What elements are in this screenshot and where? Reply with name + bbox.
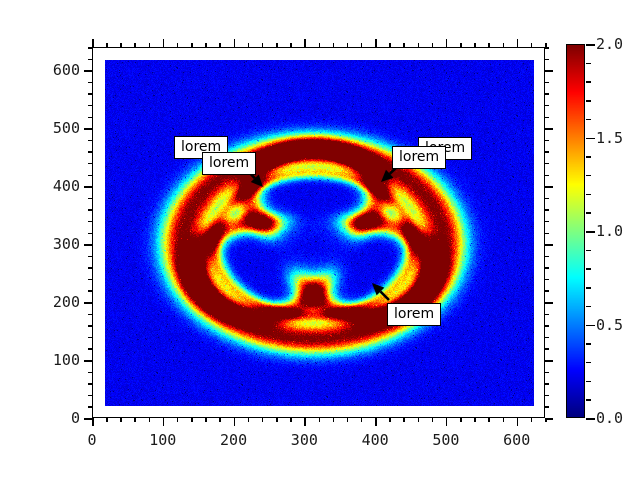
x-major-tick-top xyxy=(517,39,519,47)
y-minor-tick xyxy=(88,221,92,223)
colorbar-tick-label: 1.0 xyxy=(596,222,623,240)
y-minor-tick-right xyxy=(545,175,549,177)
colorbar-tick-label: 0.0 xyxy=(596,409,623,427)
y-major-tick xyxy=(84,418,92,420)
x-major-tick xyxy=(304,418,306,426)
x-minor-tick-top xyxy=(120,43,122,47)
x-minor-tick xyxy=(460,418,462,422)
x-major-tick xyxy=(234,418,236,426)
y-axis-tick-label: 0 xyxy=(71,409,80,427)
colorbar-major-tick xyxy=(586,138,595,140)
x-axis-tick-label: 400 xyxy=(362,431,389,449)
colorbar-minor-tick xyxy=(586,250,591,252)
y-major-tick-right xyxy=(545,360,553,362)
x-major-tick-top xyxy=(234,39,236,47)
x-minor-tick-top xyxy=(347,43,349,47)
x-minor-tick xyxy=(418,418,420,422)
y-minor-tick xyxy=(88,290,92,292)
y-major-tick-right xyxy=(545,128,553,130)
colorbar-minor-tick xyxy=(586,175,591,177)
x-minor-tick xyxy=(149,418,151,422)
y-minor-tick-right xyxy=(545,395,549,397)
x-minor-tick xyxy=(319,418,321,422)
y-major-tick xyxy=(84,70,92,72)
x-minor-tick xyxy=(276,418,278,422)
colorbar-tick-label: 2.0 xyxy=(596,35,623,53)
y-minor-tick xyxy=(88,279,92,281)
y-minor-tick-right xyxy=(545,325,549,327)
x-major-tick xyxy=(517,418,519,426)
y-major-tick-right xyxy=(545,186,553,188)
y-minor-tick-right xyxy=(545,256,549,258)
x-minor-tick xyxy=(219,418,221,422)
x-minor-tick xyxy=(177,418,179,422)
x-minor-tick xyxy=(474,418,476,422)
annotation-callout-right-front[interactable]: lorem xyxy=(392,146,446,169)
annotation-callout-left-front[interactable]: lorem xyxy=(202,152,256,175)
y-minor-tick-right xyxy=(545,314,549,316)
y-minor-tick xyxy=(88,337,92,339)
x-axis-tick-label: 500 xyxy=(432,431,459,449)
y-minor-tick xyxy=(88,105,92,107)
y-minor-tick-right xyxy=(545,198,549,200)
x-minor-tick-top xyxy=(403,43,405,47)
x-axis-tick-label: 600 xyxy=(503,431,530,449)
x-minor-tick-top xyxy=(531,43,533,47)
x-minor-tick xyxy=(333,418,335,422)
x-axis-tick-label: 100 xyxy=(149,431,176,449)
y-minor-tick xyxy=(88,395,92,397)
colorbar-minor-tick xyxy=(586,306,591,308)
colorbar-tick-label: 1.5 xyxy=(596,129,623,147)
x-minor-tick-top xyxy=(361,43,363,47)
y-minor-tick-right xyxy=(545,267,549,269)
y-minor-tick xyxy=(88,93,92,95)
y-major-tick-right xyxy=(545,244,553,246)
x-minor-tick xyxy=(403,418,405,422)
y-minor-tick xyxy=(88,267,92,269)
x-minor-tick xyxy=(205,418,207,422)
y-minor-tick-right xyxy=(545,209,549,211)
y-minor-tick xyxy=(88,314,92,316)
colorbar-minor-tick xyxy=(586,399,591,401)
y-minor-tick-right xyxy=(545,82,549,84)
y-minor-tick-right xyxy=(545,406,549,408)
x-minor-tick xyxy=(503,418,505,422)
y-minor-tick-right xyxy=(545,383,549,385)
x-axis-tick-label: 0 xyxy=(87,431,96,449)
y-major-tick-right xyxy=(545,70,553,72)
y-minor-tick xyxy=(88,198,92,200)
x-minor-tick-top xyxy=(290,43,292,47)
colorbar-gradient xyxy=(567,45,584,417)
x-minor-tick-top xyxy=(205,43,207,47)
x-major-tick-top xyxy=(375,39,377,47)
x-minor-tick-top xyxy=(106,43,108,47)
y-major-tick xyxy=(84,128,92,130)
y-minor-tick xyxy=(88,233,92,235)
x-minor-tick-top xyxy=(149,43,151,47)
colorbar-tick-label: 0.5 xyxy=(596,316,623,334)
x-minor-tick xyxy=(262,418,264,422)
y-minor-tick xyxy=(88,163,92,165)
x-major-tick xyxy=(92,418,94,426)
y-minor-tick xyxy=(88,209,92,211)
x-minor-tick-top xyxy=(262,43,264,47)
y-minor-tick xyxy=(88,151,92,153)
x-minor-tick-top xyxy=(134,43,136,47)
y-minor-tick xyxy=(88,140,92,142)
x-minor-tick-top xyxy=(319,43,321,47)
colorbar-minor-tick xyxy=(586,268,591,270)
y-minor-tick xyxy=(88,325,92,327)
y-minor-tick-right xyxy=(545,348,549,350)
y-minor-tick-right xyxy=(545,47,549,49)
colorbar-minor-tick xyxy=(586,381,591,383)
colorbar-minor-tick xyxy=(586,100,591,102)
x-minor-tick-top xyxy=(474,43,476,47)
x-minor-tick xyxy=(248,418,250,422)
colorbar-minor-tick xyxy=(586,212,591,214)
x-minor-tick-top xyxy=(460,43,462,47)
y-minor-tick xyxy=(88,59,92,61)
y-major-tick xyxy=(84,244,92,246)
x-minor-tick-top xyxy=(191,43,193,47)
x-minor-tick-top xyxy=(488,43,490,47)
y-major-tick-right xyxy=(545,302,553,304)
x-axis-tick-label: 200 xyxy=(220,431,247,449)
x-minor-tick-top xyxy=(418,43,420,47)
y-minor-tick-right xyxy=(545,93,549,95)
y-minor-tick-right xyxy=(545,372,549,374)
x-axis-tick-label: 300 xyxy=(291,431,318,449)
y-axis-tick-label: 100 xyxy=(53,351,80,369)
x-minor-tick xyxy=(531,418,533,422)
x-minor-tick xyxy=(347,418,349,422)
colorbar-major-tick xyxy=(586,44,595,46)
y-minor-tick xyxy=(88,82,92,84)
x-minor-tick xyxy=(389,418,391,422)
y-major-tick-right xyxy=(545,418,553,420)
y-minor-tick-right xyxy=(545,221,549,223)
colorbar-major-tick xyxy=(586,418,595,420)
x-major-tick-top xyxy=(304,39,306,47)
colorbar-minor-tick xyxy=(586,287,591,289)
x-minor-tick xyxy=(106,418,108,422)
colorbar-minor-tick xyxy=(586,362,591,364)
colorbar-axes xyxy=(566,44,585,418)
x-minor-tick-top xyxy=(177,43,179,47)
y-minor-tick xyxy=(88,117,92,119)
colorbar-major-tick xyxy=(586,231,595,233)
y-minor-tick xyxy=(88,348,92,350)
colorbar-minor-tick xyxy=(586,119,591,121)
x-minor-tick-top xyxy=(432,43,434,47)
y-minor-tick-right xyxy=(545,337,549,339)
y-minor-tick-right xyxy=(545,163,549,165)
y-axis-tick-label: 500 xyxy=(53,119,80,137)
y-minor-tick xyxy=(88,256,92,258)
colorbar-minor-tick xyxy=(586,194,591,196)
y-minor-tick-right xyxy=(545,140,549,142)
x-minor-tick-top xyxy=(333,43,335,47)
x-minor-tick xyxy=(432,418,434,422)
x-minor-tick xyxy=(361,418,363,422)
figure-canvas: 01002003004005006000100200300400500600 0… xyxy=(0,0,640,480)
x-major-tick xyxy=(163,418,165,426)
y-major-tick xyxy=(84,302,92,304)
y-minor-tick xyxy=(88,406,92,408)
y-axis-tick-label: 400 xyxy=(53,177,80,195)
x-minor-tick xyxy=(134,418,136,422)
y-minor-tick-right xyxy=(545,279,549,281)
y-minor-tick-right xyxy=(545,151,549,153)
x-minor-tick-top xyxy=(248,43,250,47)
y-axis-tick-label: 600 xyxy=(53,61,80,79)
x-minor-tick-top xyxy=(389,43,391,47)
y-minor-tick xyxy=(88,383,92,385)
x-minor-tick-top xyxy=(503,43,505,47)
y-minor-tick-right xyxy=(545,105,549,107)
x-minor-tick-top xyxy=(219,43,221,47)
x-major-tick-top xyxy=(446,39,448,47)
y-minor-tick xyxy=(88,47,92,49)
colorbar-major-tick xyxy=(586,325,595,327)
y-major-tick xyxy=(84,186,92,188)
x-minor-tick xyxy=(191,418,193,422)
colorbar-minor-tick xyxy=(586,63,591,65)
heatmap-image xyxy=(105,60,534,406)
x-minor-tick xyxy=(290,418,292,422)
colorbar-minor-tick xyxy=(586,156,591,158)
x-major-tick xyxy=(375,418,377,426)
colorbar-minor-tick xyxy=(586,81,591,83)
y-minor-tick-right xyxy=(545,233,549,235)
y-minor-tick-right xyxy=(545,117,549,119)
y-minor-tick xyxy=(88,175,92,177)
y-minor-tick xyxy=(88,372,92,374)
annotation-callout-bottom[interactable]: lorem xyxy=(387,303,441,326)
x-major-tick-top xyxy=(163,39,165,47)
y-major-tick xyxy=(84,360,92,362)
x-major-tick xyxy=(446,418,448,426)
y-minor-tick-right xyxy=(545,290,549,292)
y-axis-tick-label: 200 xyxy=(53,293,80,311)
y-axis-tick-label: 300 xyxy=(53,235,80,253)
y-minor-tick-right xyxy=(545,59,549,61)
x-major-tick-top xyxy=(92,39,94,47)
colorbar-minor-tick xyxy=(586,343,591,345)
x-minor-tick-top xyxy=(276,43,278,47)
x-minor-tick xyxy=(488,418,490,422)
x-minor-tick xyxy=(120,418,122,422)
